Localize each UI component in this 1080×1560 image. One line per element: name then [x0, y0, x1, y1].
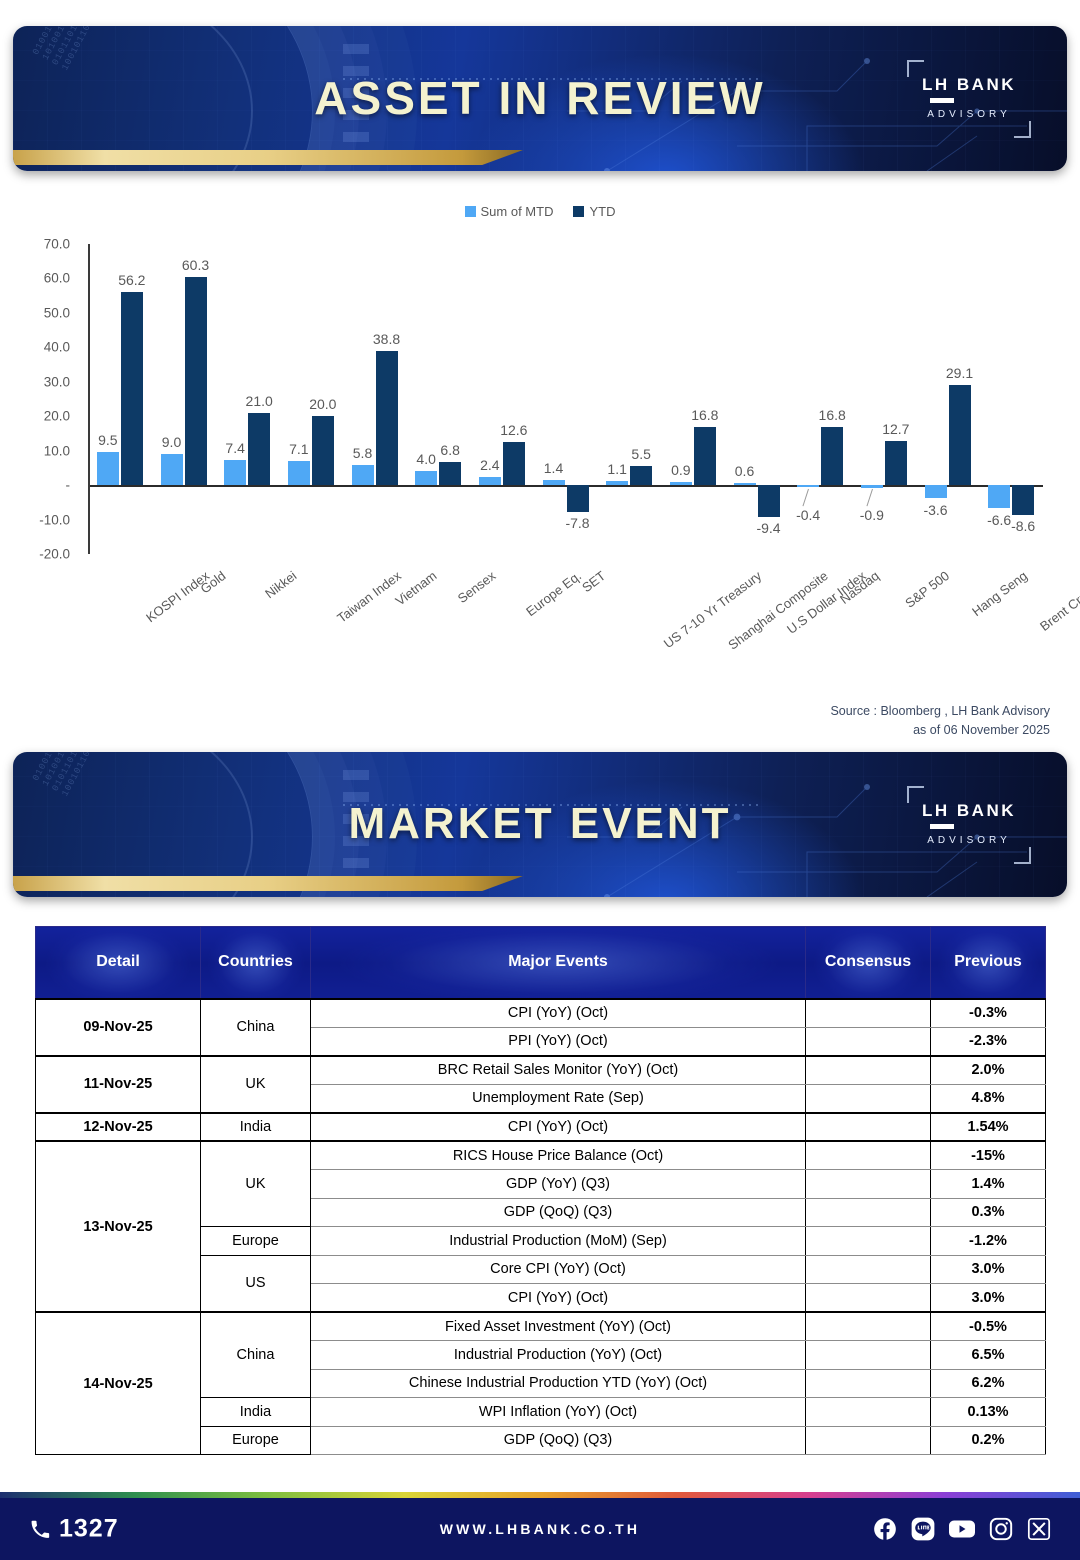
bar-data-label: 29.1 [937, 365, 983, 381]
bar-mtd[interactable] [797, 485, 819, 487]
cell-event: RICS House Price Balance (Oct) [311, 1141, 806, 1170]
bar-mtd[interactable] [606, 481, 628, 485]
y-axis-tick-label: - [18, 478, 70, 493]
y-axis-tick-label: 10.0 [18, 443, 70, 458]
table-row[interactable]: 14-Nov-25ChinaFixed Asset Investment (Yo… [36, 1312, 1046, 1341]
cell-date: 14-Nov-25 [36, 1312, 201, 1455]
cell-previous: -2.3% [931, 1027, 1046, 1056]
cell-event: Chinese Industrial Production YTD (YoY) … [311, 1369, 806, 1398]
line-icon[interactable] [910, 1516, 936, 1542]
logo-subtitle: ADVISORY [927, 835, 1011, 846]
bar-mtd[interactable] [543, 480, 565, 485]
cell-event: GDP (YoY) (Q3) [311, 1170, 806, 1199]
legend-item-1[interactable]: YTD [573, 204, 615, 219]
bar-data-label: -3.6 [913, 502, 959, 518]
gold-accent-strip [13, 150, 523, 165]
bar-data-label: -0.4 [785, 507, 831, 523]
x-axis-category-label: Brent Crude Oil [1037, 568, 1080, 634]
cell-consensus [806, 1426, 931, 1455]
cell-previous: 4.8% [931, 1084, 1046, 1113]
cell-consensus [806, 1027, 931, 1056]
lh-bank-advisory-logo: LH BANK ADVISORY [907, 60, 1031, 138]
cell-consensus [806, 1170, 931, 1199]
logo-name: LH BANK [922, 75, 1016, 95]
cell-consensus [806, 1141, 931, 1170]
bar-data-label: 12.7 [873, 421, 919, 437]
logo-subtitle: ADVISORY [927, 109, 1011, 120]
cell-date: 12-Nov-25 [36, 1113, 201, 1142]
table-header-countries[interactable]: Countries [201, 927, 311, 999]
legend-item-0[interactable]: Sum of MTD [465, 204, 554, 219]
y-axis-tick-label: 20.0 [18, 409, 70, 424]
cell-previous: 1.4% [931, 1170, 1046, 1199]
cell-consensus [806, 1255, 931, 1284]
bar-data-label: 6.8 [427, 442, 473, 458]
asset-in-review-banner: 01001010110100101 10100101001011010 0101… [13, 26, 1067, 171]
bar-data-label: 21.0 [236, 393, 282, 409]
social-links [872, 1516, 1052, 1542]
cell-event: Industrial Production (YoY) (Oct) [311, 1341, 806, 1370]
cell-consensus [806, 1056, 931, 1085]
cell-previous: 3.0% [931, 1255, 1046, 1284]
bar-ytd[interactable] [121, 292, 143, 486]
cell-event: GDP (QoQ) (Q3) [311, 1198, 806, 1227]
cell-consensus [806, 1341, 931, 1370]
table-body: 09-Nov-25ChinaCPI (YoY) (Oct)-0.3%PPI (Y… [36, 999, 1046, 1455]
cell-country: China [201, 999, 311, 1056]
bar-ytd[interactable] [821, 427, 843, 485]
bar-data-label: 38.8 [364, 331, 410, 347]
cell-consensus [806, 1398, 931, 1427]
cell-country: Europe [201, 1227, 311, 1256]
gold-accent-strip [13, 876, 523, 891]
bar-data-label: -8.6 [1000, 518, 1046, 534]
cell-event: BRC Retail Sales Monitor (YoY) (Oct) [311, 1056, 806, 1085]
cell-previous: 0.13% [931, 1398, 1046, 1427]
x-axis-category-label: SET [579, 568, 608, 595]
bar-mtd[interactable] [925, 485, 947, 497]
y-axis-tick-label: 50.0 [18, 305, 70, 320]
y-axis-line [88, 244, 90, 554]
legend-swatch-icon [573, 206, 584, 217]
market-event-banner: 01001010110100101 10100101001011010 0101… [13, 752, 1067, 897]
cell-previous: 6.2% [931, 1369, 1046, 1398]
cell-previous: -1.2% [931, 1227, 1046, 1256]
bar-mtd[interactable] [415, 471, 437, 485]
facebook-icon[interactable] [872, 1516, 898, 1542]
cell-date: 13-Nov-25 [36, 1141, 201, 1312]
cell-country: UK [201, 1141, 311, 1227]
y-axis-tick-label: -20.0 [18, 547, 70, 562]
label-leader-line [803, 489, 810, 506]
y-axis-tick-label: 40.0 [18, 340, 70, 355]
bar-ytd[interactable] [949, 385, 971, 485]
logo-name: LH BANK [922, 801, 1016, 821]
logo-underline-bar [930, 824, 954, 829]
table-row[interactable]: 11-Nov-25UKBRC Retail Sales Monitor (YoY… [36, 1056, 1046, 1085]
x-axis-category-label: Hang Seng [969, 568, 1030, 619]
bar-data-label: 20.0 [300, 396, 346, 412]
bar-mtd[interactable] [988, 485, 1010, 508]
bar-data-label: 60.3 [173, 257, 219, 273]
cell-country: China [201, 1312, 311, 1398]
bar-data-label: 5.5 [618, 446, 664, 462]
table-header-row: DetailCountriesMajor EventsConsensusPrev… [36, 927, 1046, 999]
instagram-icon[interactable] [988, 1516, 1014, 1542]
cell-previous: 1.54% [931, 1113, 1046, 1142]
cell-date: 09-Nov-25 [36, 999, 201, 1056]
bar-mtd[interactable] [479, 477, 501, 485]
bar-ytd[interactable] [1012, 485, 1034, 515]
x-axis-category-label: S&P 500 [902, 568, 952, 611]
cell-consensus [806, 1198, 931, 1227]
cell-previous: 2.0% [931, 1056, 1046, 1085]
bar-data-label: 0.6 [722, 463, 768, 479]
bar-ytd[interactable] [185, 277, 207, 485]
source-line-1: Source : Bloomberg , LH Bank Advisory [830, 702, 1050, 721]
cell-previous: 6.5% [931, 1341, 1046, 1370]
bar-ytd[interactable] [694, 427, 716, 485]
cell-event: PPI (YoY) (Oct) [311, 1027, 806, 1056]
cell-event: CPI (YoY) (Oct) [311, 1113, 806, 1142]
table-header-detail[interactable]: Detail [36, 927, 201, 999]
bar-mtd[interactable] [352, 465, 374, 485]
table-row[interactable]: 13-Nov-25UKRICS House Price Balance (Oct… [36, 1141, 1046, 1170]
cell-event: GDP (QoQ) (Q3) [311, 1426, 806, 1455]
cell-country: Europe [201, 1426, 311, 1455]
cell-country: India [201, 1113, 311, 1142]
table-header-previous[interactable]: Previous [931, 927, 1046, 999]
x-icon[interactable] [1026, 1516, 1052, 1542]
cell-previous: 3.0% [931, 1284, 1046, 1313]
source-line-2: as of 06 November 2025 [830, 721, 1050, 740]
table-header-consensus[interactable]: Consensus [806, 927, 931, 999]
bar-ytd[interactable] [248, 413, 270, 485]
cell-consensus [806, 1113, 931, 1142]
bar-mtd[interactable] [670, 482, 692, 485]
bar-ytd[interactable] [885, 441, 907, 485]
asset-performance-bar-chart: 70.060.050.040.030.020.010.0--10.0-20.09… [0, 236, 1080, 676]
label-leader-line [866, 489, 873, 506]
bar-data-label: 16.8 [809, 407, 855, 423]
x-axis-category-label: KOSPI Index [143, 568, 212, 625]
bar-ytd[interactable] [630, 466, 652, 485]
bar-mtd[interactable] [97, 452, 119, 485]
x-axis-category-label: Europe Eq. [523, 568, 584, 619]
chart-legend: Sum of MTDYTD [0, 204, 1080, 219]
y-axis-tick-label: 70.0 [18, 237, 70, 252]
bar-mtd[interactable] [288, 461, 310, 485]
cell-country: India [201, 1398, 311, 1427]
cell-event: Industrial Production (MoM) (Sep) [311, 1227, 806, 1256]
bar-mtd[interactable] [734, 483, 756, 485]
bar-data-label: 16.8 [682, 407, 728, 423]
cell-country: US [201, 1255, 311, 1312]
bar-data-label: -0.9 [849, 507, 895, 523]
bar-ytd[interactable] [312, 416, 334, 485]
bar-ytd[interactable] [503, 442, 525, 485]
table-row[interactable]: 09-Nov-25ChinaCPI (YoY) (Oct)-0.3% [36, 999, 1046, 1028]
logo-bracket-bottom-right [1014, 121, 1031, 138]
cell-consensus [806, 999, 931, 1028]
chart-source-note: Source : Bloomberg , LH Bank Advisory as… [830, 702, 1050, 740]
bar-mtd[interactable] [861, 485, 883, 488]
cell-consensus [806, 1312, 931, 1341]
cell-event: Core CPI (YoY) (Oct) [311, 1255, 806, 1284]
logo-underline-bar [930, 98, 954, 103]
cell-event: CPI (YoY) (Oct) [311, 999, 806, 1028]
market-event-table: DetailCountriesMajor EventsConsensusPrev… [35, 926, 1046, 1455]
x-axis-category-label: Sensex [455, 568, 499, 606]
bar-data-label: 1.4 [531, 460, 577, 476]
cell-consensus [806, 1369, 931, 1398]
legend-swatch-icon [465, 206, 476, 217]
cell-previous: -0.3% [931, 999, 1046, 1028]
logo-bracket-bottom-right [1014, 847, 1031, 864]
cell-country: UK [201, 1056, 311, 1113]
bar-mtd[interactable] [224, 460, 246, 485]
bar-data-label: 12.6 [491, 422, 537, 438]
y-axis-tick-label: -10.0 [18, 512, 70, 527]
table-row[interactable]: 12-Nov-25IndiaCPI (YoY) (Oct)1.54% [36, 1113, 1046, 1142]
y-axis-tick-label: 60.0 [18, 271, 70, 286]
cell-event: WPI Inflation (YoY) (Oct) [311, 1398, 806, 1427]
bar-ytd[interactable] [439, 462, 461, 485]
bar-ytd[interactable] [567, 485, 589, 512]
cell-consensus [806, 1284, 931, 1313]
cell-previous: -0.5% [931, 1312, 1046, 1341]
lh-bank-advisory-logo: LH BANK ADVISORY [907, 786, 1031, 864]
cell-event: Unemployment Rate (Sep) [311, 1084, 806, 1113]
cell-previous: 0.2% [931, 1426, 1046, 1455]
cell-previous: -15% [931, 1141, 1046, 1170]
bar-ytd[interactable] [376, 351, 398, 485]
cell-consensus [806, 1084, 931, 1113]
cell-previous: 0.3% [931, 1198, 1046, 1227]
cell-consensus [806, 1227, 931, 1256]
youtube-icon[interactable] [948, 1516, 976, 1542]
zero-axis-line [88, 485, 1043, 487]
bar-ytd[interactable] [758, 485, 780, 517]
page-footer: 1327 WWW.LHBANK.CO.TH [0, 1498, 1080, 1560]
bar-data-label: -7.8 [555, 515, 601, 531]
cell-event: CPI (YoY) (Oct) [311, 1284, 806, 1313]
cell-event: Fixed Asset Investment (YoY) (Oct) [311, 1312, 806, 1341]
y-axis-tick-label: 30.0 [18, 374, 70, 389]
table-header-major-events[interactable]: Major Events [311, 927, 806, 999]
cell-date: 11-Nov-25 [36, 1056, 201, 1113]
bar-data-label: 56.2 [109, 272, 155, 288]
legend-label: YTD [589, 204, 615, 219]
bar-mtd[interactable] [161, 454, 183, 485]
x-axis-category-label: Nikkei [262, 568, 299, 601]
legend-label: Sum of MTD [481, 204, 554, 219]
